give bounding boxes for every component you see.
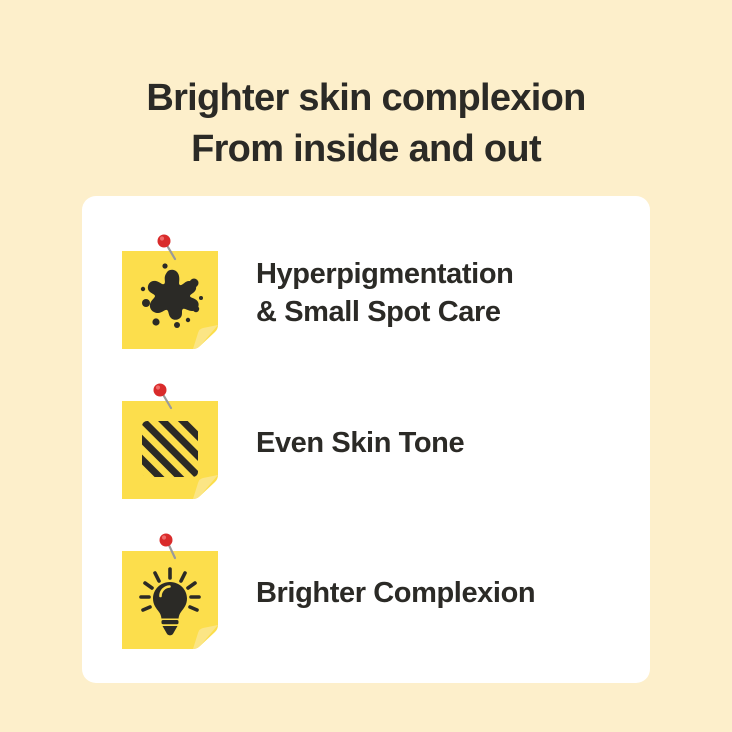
feature-item-even-skin-tone: Even Skin Tone [120,383,620,503]
feature-label-1-line-1: Hyperpigmentation [256,258,513,290]
feature-label-2: Even Skin Tone [256,424,464,462]
sticky-note-3 [120,533,220,653]
sticky-note-1 [120,233,220,353]
page-title-line-1: Brighter skin complexion [0,73,732,124]
feature-card: Hyperpigmentation & Small Spot Care [82,196,650,683]
feature-list: Hyperpigmentation & Small Spot Care [82,196,650,683]
page-title: Brighter skin complexion From inside and… [0,73,732,174]
feature-item-brighter-complexion: Brighter Complexion [120,533,620,653]
lightbulb-icon [120,533,220,653]
feature-label-3-line-1: Brighter Complexion [256,577,535,609]
sticky-note-2 [120,383,220,503]
feature-label-3: Brighter Complexion [256,574,535,612]
feature-label-1-line-2: & Small Spot Care [256,293,513,331]
page-title-line-2: From inside and out [0,124,732,175]
ink-splatter-icon [120,233,220,353]
diagonal-stripes-icon [120,383,220,503]
feature-item-hyperpigmentation: Hyperpigmentation & Small Spot Care [120,233,620,353]
feature-label-2-line-1: Even Skin Tone [256,427,464,459]
feature-label-1: Hyperpigmentation & Small Spot Care [256,255,513,332]
poster: Brighter skin complexion From inside and… [0,0,732,732]
